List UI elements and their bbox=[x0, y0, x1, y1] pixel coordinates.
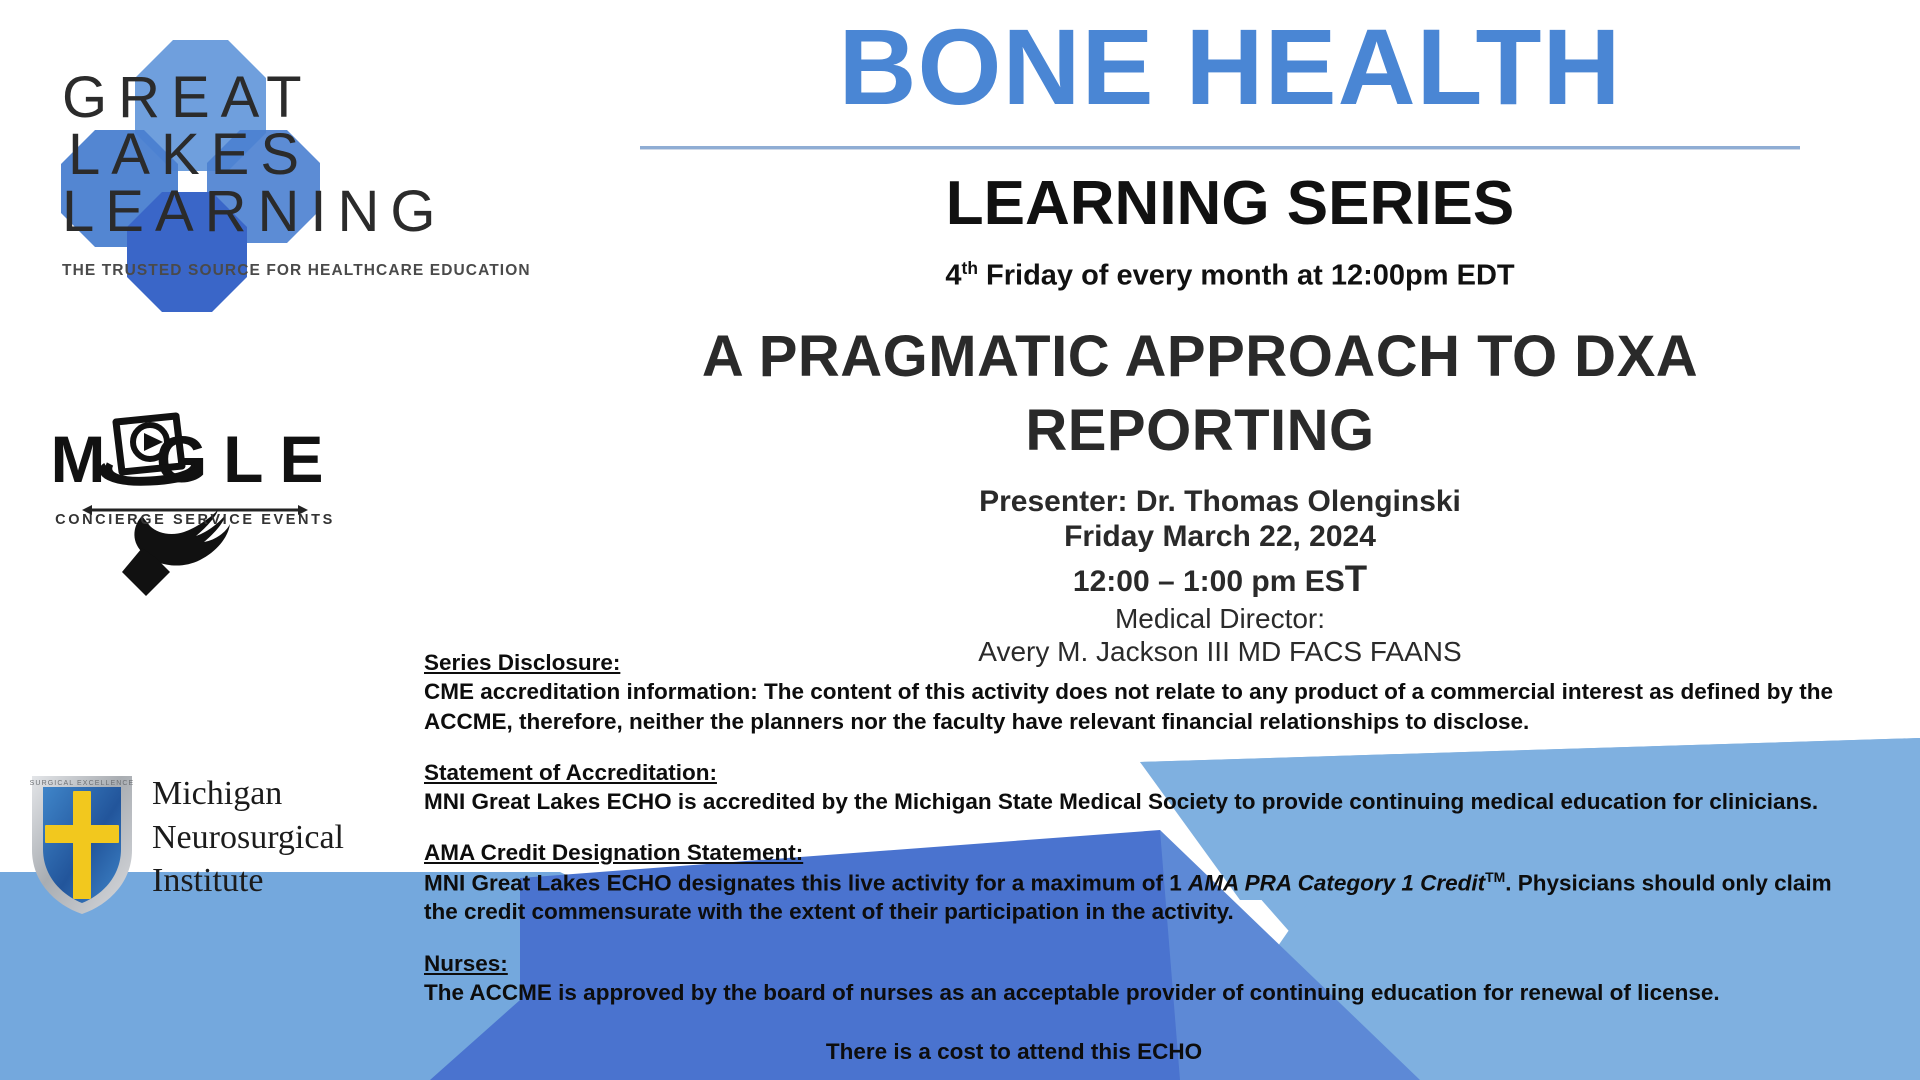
shield-motto-top: SURGICAL EXCELLENCE bbox=[30, 780, 135, 787]
mogle-logo: M GLE CONCIERGE SERVICE EVENTS bbox=[30, 400, 360, 615]
ama-credit-heading: AMA Credit Designation Statement: bbox=[424, 838, 1920, 867]
michigan-neurosurgical-institute-logo: SURGICAL EXCELLENCE Michigan Neurosurgic… bbox=[12, 768, 342, 938]
ama-credit-body-line-2: the credit commensurate with the extent … bbox=[424, 897, 1920, 926]
statement-of-accreditation-heading: Statement of Accreditation: bbox=[424, 758, 1920, 787]
presenter-name-line: Presenter: Dr. Thomas Olenginski bbox=[760, 485, 1680, 520]
nurses-heading: Nurses: bbox=[424, 949, 1920, 978]
title-divider-rule bbox=[640, 146, 1800, 150]
mni-line-3: Institute bbox=[152, 859, 344, 903]
spacer-1 bbox=[424, 736, 1920, 758]
gll-word-lakes: LAKES bbox=[68, 127, 498, 184]
spacer-3 bbox=[424, 927, 1920, 949]
cost-note: There is a cost to attend this ECHO bbox=[424, 1037, 1604, 1066]
gll-word-great: GREAT bbox=[62, 70, 498, 127]
schedule-line: 4th Friday of every month at 12:00pm EDT bbox=[640, 258, 1820, 293]
flyer-slide: GREAT LAKES LEARNING THE TRUSTED SOURCE … bbox=[0, 0, 1920, 1080]
mogle-tophat-and-hand-icon bbox=[30, 400, 360, 615]
medical-director-label: Medical Director: bbox=[760, 602, 1680, 635]
time-main: 12:00 – 1:00 pm ES bbox=[1073, 565, 1345, 598]
gll-word-learning: LEARNING bbox=[62, 184, 498, 241]
schedule-ordinal: th bbox=[962, 258, 978, 278]
presenter-date-line: Friday March 22, 2024 bbox=[760, 520, 1680, 555]
ama-body-part1: MNI Great Lakes ECHO designates this liv… bbox=[424, 870, 1188, 895]
series-disclosure-line-1: CME accreditation information: The conte… bbox=[424, 677, 1920, 706]
mni-line-2: Neurosurgical bbox=[152, 816, 344, 860]
ama-credit-body-line-1: MNI Great Lakes ECHO designates this liv… bbox=[424, 868, 1920, 898]
ama-body-part2: . Physicians should only claim bbox=[1505, 870, 1831, 895]
time-tail: T bbox=[1345, 558, 1367, 599]
schedule-number: 4 bbox=[945, 260, 961, 292]
great-lakes-learning-wordmark: GREAT LAKES LEARNING bbox=[58, 70, 498, 240]
mni-line-1: Michigan bbox=[152, 772, 344, 816]
schedule-rest: Friday of every month at 12:00pm EDT bbox=[978, 260, 1515, 292]
mni-wordmark: Michigan Neurosurgical Institute bbox=[152, 772, 344, 903]
accreditation-disclosure-block: Series Disclosure: CME accreditation inf… bbox=[424, 648, 1920, 1066]
presenter-time-line: 12:00 – 1:00 pm EST bbox=[760, 555, 1680, 603]
series-disclosure-line-2: ACCME, therefore, neither the planners n… bbox=[424, 707, 1920, 736]
page-title-bone-health: BONE HEALTH bbox=[640, 10, 1820, 123]
mogle-tagline: CONCIERGE SERVICE EVENTS bbox=[30, 512, 360, 528]
session-topic-title: A PRAGMATIC APPROACH TO DXA REPORTING bbox=[560, 320, 1840, 468]
mni-shield-icon: SURGICAL EXCELLENCE bbox=[22, 768, 142, 918]
page-subtitle-learning-series: LEARNING SERIES bbox=[640, 168, 1820, 239]
ama-body-tm: TM bbox=[1485, 869, 1505, 885]
statement-of-accreditation-body: MNI Great Lakes ECHO is accredited by th… bbox=[424, 787, 1920, 816]
presenter-details: Presenter: Dr. Thomas Olenginski Friday … bbox=[760, 485, 1680, 668]
gll-tagline: THE TRUSTED SOURCE FOR HEALTHCARE EDUCAT… bbox=[62, 262, 492, 280]
play-triangle-icon bbox=[144, 433, 163, 451]
series-disclosure-heading: Series Disclosure: bbox=[424, 648, 1920, 677]
great-lakes-learning-logo: GREAT LAKES LEARNING THE TRUSTED SOURCE … bbox=[40, 22, 510, 312]
spacer-2 bbox=[424, 816, 1920, 838]
ama-body-italic: AMA PRA Category 1 Credit bbox=[1188, 870, 1485, 895]
nurses-body: The ACCME is approved by the board of nu… bbox=[424, 978, 1920, 1007]
